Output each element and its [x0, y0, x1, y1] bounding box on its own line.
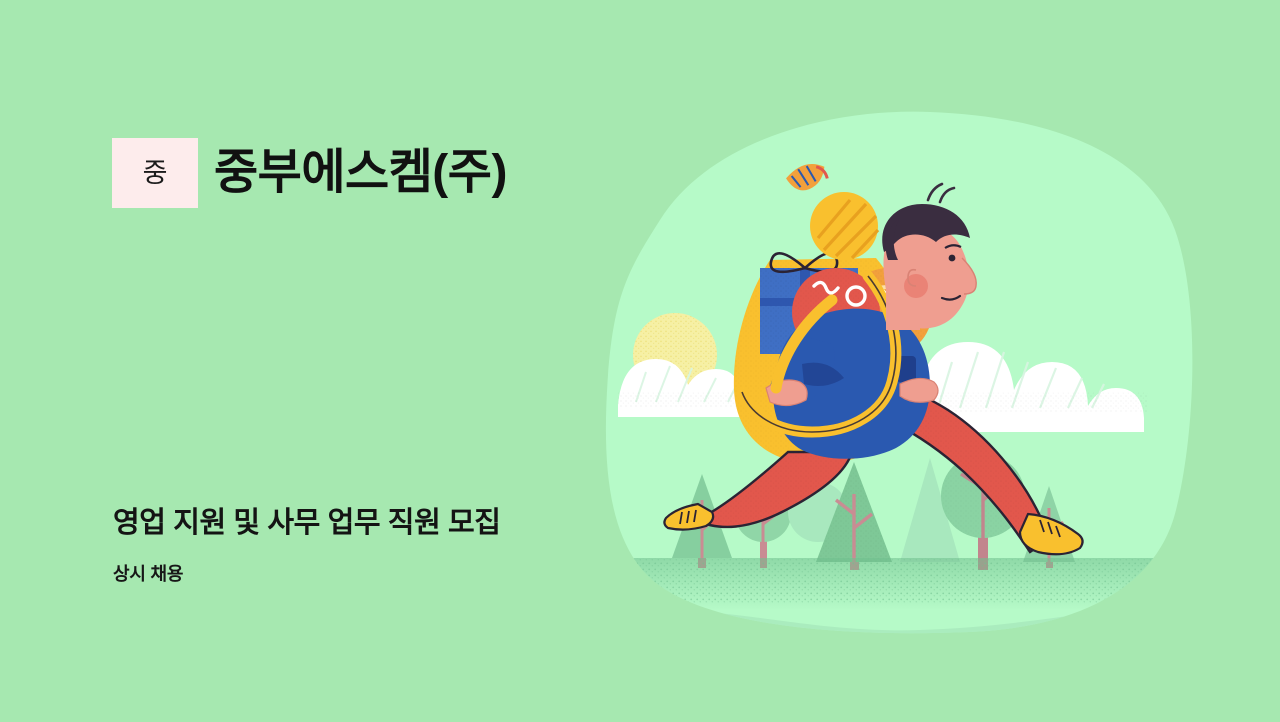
- confetti-piece: [784, 160, 829, 194]
- tree-round: [735, 486, 791, 568]
- ball-yellow-striped: [810, 192, 878, 260]
- job-summary: 영업 지원 및 사무 업무 직원 모집 상시 채용: [113, 505, 633, 587]
- runner-arm-left: [768, 338, 835, 405]
- company-header: 중 중부에스켐(주): [112, 138, 507, 208]
- company-name: 중부에스켐(주): [214, 148, 507, 198]
- runner-neck: [886, 288, 920, 330]
- job-title: 영업 지원 및 사무 업무 직원 모집: [113, 505, 633, 541]
- job-posting-banner: 중 중부에스켐(주) 영업 지원 및 사무 업무 직원 모집 상시 채용: [0, 0, 1280, 722]
- runner-rear-leg: [664, 452, 852, 530]
- runner-hands: [766, 378, 938, 405]
- sack-strap-outline: [742, 276, 896, 432]
- gift-sack: [734, 258, 913, 464]
- runner-head: [882, 184, 976, 329]
- ball-red-symbols: [792, 268, 886, 356]
- runner-front-leg: [828, 376, 1083, 554]
- tree-round-pale: [788, 482, 848, 542]
- company-logo-initial: 중: [143, 160, 168, 187]
- tree-round-large: [941, 454, 1025, 570]
- sack-strap: [742, 276, 896, 432]
- job-recruitment-type: 상시 채용: [113, 563, 633, 586]
- gift-box: [760, 253, 858, 354]
- tree-conifer-dark: [816, 462, 892, 570]
- runner-cuff-right: [896, 356, 916, 382]
- cloud-left: [618, 359, 784, 417]
- tree-row: [672, 454, 1075, 570]
- company-logo: 중: [112, 138, 198, 208]
- runner-torso: [773, 309, 930, 459]
- blob-background: [606, 112, 1192, 634]
- blob-bottom-wave: [600, 600, 1220, 660]
- running-delivery-person-illustration: [600, 100, 1220, 660]
- runner-figure: [664, 184, 1082, 554]
- tree-conifer-small: [1023, 486, 1075, 568]
- tree-conifer-pale: [900, 458, 960, 562]
- sun: [633, 313, 717, 397]
- cloud-right: [918, 342, 1148, 432]
- tree-conifer: [672, 474, 732, 568]
- ball-orange-striped: [844, 268, 932, 356]
- ground-shadow: [600, 558, 1220, 610]
